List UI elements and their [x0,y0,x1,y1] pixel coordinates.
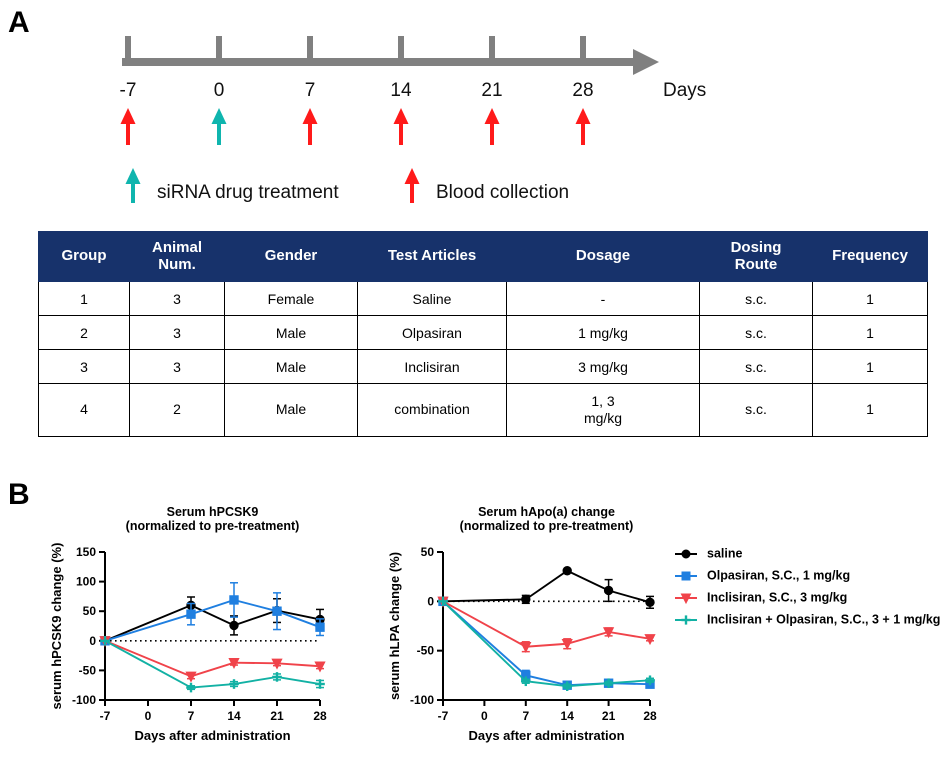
chart-hapoa: Serum hApo(a) change(normalized to pre-t… [387,505,657,743]
table-cell-route: s.c. [700,316,813,350]
y-tick-label: 0 [89,634,96,648]
table-cell-dosage: 1, 3mg/kg [507,384,700,437]
table-cell-gender: Male [225,316,358,350]
legend-label-3: Inclisiran + Olpasiran, S.C., 3 + 1 mg/k… [707,612,940,626]
y-tick-label: 50 [83,604,97,618]
table-cell-group: 2 [39,316,130,350]
table-cell-test_article: Saline [358,282,507,316]
x-tick-label: 7 [188,709,195,723]
table-cell-dosage: 1 mg/kg [507,316,700,350]
legend-label-0: saline [707,546,742,560]
table-cell-test_article: Inclisiran [358,350,507,384]
table-cell-animal_num: 3 [130,316,225,350]
table-cell-route: s.c. [700,384,813,437]
table-cell-dosage: - [507,282,700,316]
table-cell-animal_num: 3 [130,350,225,384]
column-header-text: Dosing [701,240,811,257]
table-cell-frequency: 1 [813,282,928,316]
column-header-group: Group [39,232,130,282]
series-square [439,597,654,689]
table-cell-group: 3 [39,350,130,384]
y-axis-label: serum hLPA change (%) [387,552,402,700]
chart-title: Serum hApo(a) change [478,505,615,519]
x-tick-label: -7 [438,709,449,723]
table-row: 42Malecombination1, 3mg/kgs.c.1 [39,384,928,437]
study-timeline-diagram: -707142128DayssiRNA drug treatmentBlood … [0,0,945,220]
x-tick-label: 21 [270,709,284,723]
timeline-tick-label-14: 14 [390,80,412,101]
table-row: 23MaleOlpasiran1 mg/kgs.c.1 [39,316,928,350]
chart-legend: salineOlpasiran, S.C., 1 mg/kgInclisiran… [675,546,940,626]
legend-marker-plus [681,615,690,624]
y-tick-label: 0 [427,594,434,608]
table-cell-dosage: 3 mg/kg [507,350,700,384]
timeline-arrowhead [633,49,659,75]
column-header-text: Dosage [508,248,698,265]
series-circle [101,597,324,645]
column-header-animal-num: AnimalNum. [130,232,225,282]
chart-hpcsk9: Serum hPCSK9(normalized to pre-treatment… [49,505,327,743]
chart-title: Serum hPCSK9 [167,505,259,519]
series-triangle-down [438,597,655,652]
series-plus [438,597,655,691]
table-cell-frequency: 1 [813,316,928,350]
table-cell-frequency: 1 [813,384,928,437]
chart-subtitle: (normalized to pre-treatment) [460,519,634,533]
y-tick-label: -100 [410,693,434,707]
results-charts: Serum hPCSK9(normalized to pre-treatment… [0,470,945,768]
y-tick-label: -50 [79,663,97,677]
table-cell-test_article: Olpasiran [358,316,507,350]
chart-subtitle: (normalized to pre-treatment) [126,519,300,533]
blood-collection-arrow-day7 [303,108,318,145]
table-cell-gender: Male [225,350,358,384]
series-triangle-down [100,637,325,682]
y-tick-label: -50 [417,644,435,658]
column-header-frequency: Frequency [813,232,928,282]
y-tick-label: 100 [76,575,96,589]
timeline-tick-label--7: -7 [120,80,137,101]
timeline-legend-up-arrow-icon-0 [126,168,141,203]
blood-collection-arrow-day14 [394,108,409,145]
legend-label-2: Inclisiran, S.C., 3 mg/kg [707,590,847,604]
timeline-tick-14 [398,36,404,58]
column-header-text: Group [40,248,128,265]
x-tick-label: 14 [227,709,241,723]
x-tick-label: 28 [313,709,327,723]
y-tick-label: -100 [72,693,96,707]
table-cell-route: s.c. [700,350,813,384]
column-header-gender: Gender [225,232,358,282]
column-header-test-articles: Test Articles [358,232,507,282]
x-axis-label: Days after administration [468,728,624,743]
blood-collection-arrow-day21 [485,108,500,145]
table-row: 13FemaleSaline-s.c.1 [39,282,928,316]
cell-text: 1, 3 [508,393,698,411]
timeline-tick-21 [489,36,495,58]
column-header-text-line2: Route [701,257,811,274]
timeline-tick-28 [580,36,586,58]
column-header-text: Frequency [814,248,926,265]
column-header-dosing-route: DosingRoute [700,232,813,282]
x-tick-label: 21 [602,709,616,723]
sirna-treatment-arrow-day0 [212,108,227,145]
blood-collection-arrow-day-7 [121,108,136,145]
legend-marker-square [682,572,690,580]
table-row: 33MaleInclisiran3 mg/kgs.c.1 [39,350,928,384]
column-header-text: Test Articles [359,248,505,265]
legend-marker-circle [682,550,690,558]
table-cell-frequency: 1 [813,350,928,384]
legend-label-1: Olpasiran, S.C., 1 mg/kg [707,568,850,582]
x-tick-label: 7 [522,709,529,723]
x-tick-label: 0 [145,709,152,723]
column-header-text: Animal [131,240,223,257]
table-cell-animal_num: 2 [130,384,225,437]
y-tick-label: 50 [421,545,435,559]
timeline-tick-label-21: 21 [481,80,502,101]
column-header-dosage: Dosage [507,232,700,282]
x-tick-label: 14 [561,709,575,723]
table-cell-test_article: combination [358,384,507,437]
y-tick-label: 150 [76,545,96,559]
timeline-legend-label-0: siRNA drug treatment [157,182,339,203]
timeline-tick--7 [125,36,131,58]
timeline-unit-label: Days [663,80,706,101]
table-cell-group: 4 [39,384,130,437]
blood-collection-arrow-day28 [576,108,591,145]
timeline-tick-label-28: 28 [572,80,593,101]
cell-text-line2: mg/kg [508,410,698,428]
table-cell-animal_num: 3 [130,282,225,316]
table-cell-group: 1 [39,282,130,316]
table-cell-route: s.c. [700,282,813,316]
x-tick-label: -7 [100,709,111,723]
table-header-row: Group AnimalNum. Gender Test Articles Do… [39,232,928,282]
timeline-tick-0 [216,36,222,58]
table-cell-gender: Female [225,282,358,316]
timeline-axis [122,58,635,66]
x-axis-label: Days after administration [134,728,290,743]
timeline-legend-label-1: Blood collection [436,182,569,203]
x-tick-label: 28 [643,709,657,723]
table-body: 13FemaleSaline-s.c.123MaleOlpasiran1 mg/… [39,282,928,437]
y-axis-label: serum hPCSK9 change (%) [49,543,64,710]
column-header-text: Gender [226,248,356,265]
x-tick-label: 0 [481,709,488,723]
series-circle [439,567,654,609]
table-cell-gender: Male [225,384,358,437]
timeline-tick-label-0: 0 [214,80,225,101]
study-design-table: Group AnimalNum. Gender Test Articles Do… [38,231,928,437]
timeline-tick-label-7: 7 [305,80,316,101]
column-header-text-line2: Num. [131,257,223,274]
timeline-legend-up-arrow-icon-1 [405,168,420,203]
timeline-tick-7 [307,36,313,58]
